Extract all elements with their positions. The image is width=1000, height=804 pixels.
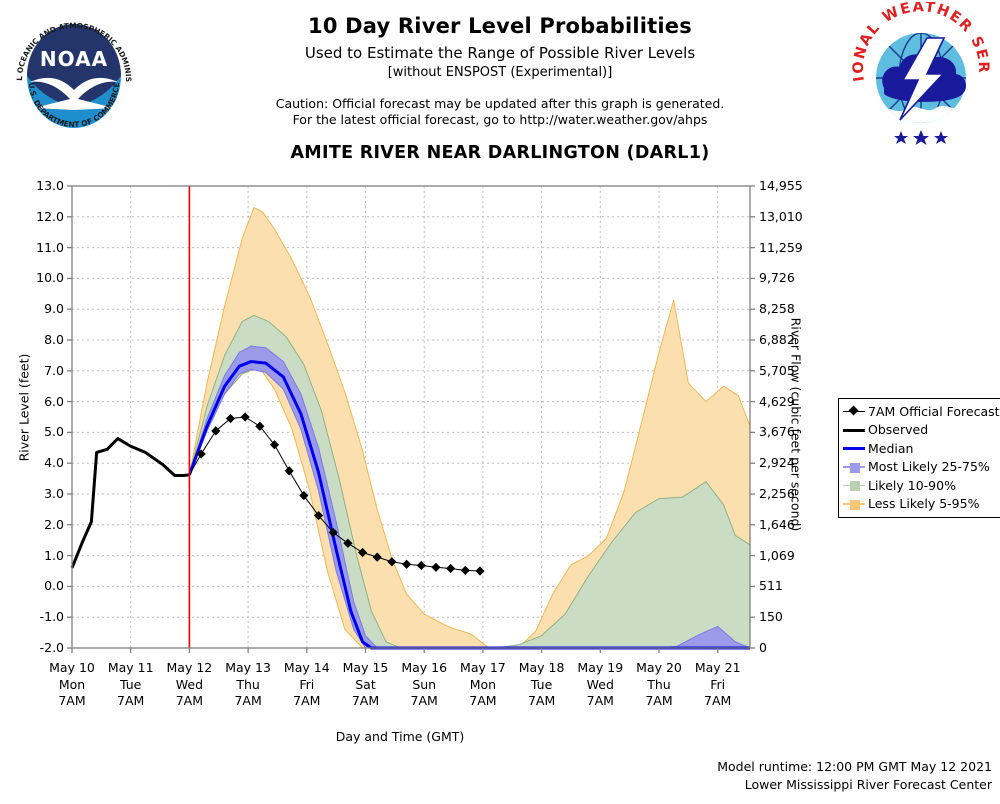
- y2-axis-tick-label: 5,705: [759, 363, 829, 378]
- y-axis-tick-label: 1.0: [18, 548, 64, 563]
- legend-marker-line-square-icon: [843, 460, 865, 474]
- y2-axis-tick-label: 6,882: [759, 332, 829, 347]
- legend-item: Less Likely 5-95%: [843, 495, 1000, 514]
- y2-axis-tick-label: 11,259: [759, 240, 829, 255]
- x-axis-tick-label: May 21Fri7AM: [675, 660, 761, 710]
- legend-marker-line-square-icon: [843, 478, 865, 492]
- chart-legend: 7AM Official ForecastObservedMedianMost …: [838, 398, 1000, 518]
- y-axis-tick-label: 7.0: [18, 363, 64, 378]
- y-axis-tick-label: 9.0: [18, 301, 64, 316]
- legend-item: 7AM Official Forecast: [843, 402, 1000, 421]
- legend-item: Median: [843, 439, 1000, 458]
- legend-label: Likely 10-90%: [868, 478, 956, 493]
- forecast-center-text: Lower Mississippi River Forecast Center: [717, 776, 992, 794]
- y2-axis-tick-label: 14,955: [759, 178, 829, 193]
- footer-block: Model runtime: 12:00 PM GMT May 12 2021 …: [717, 758, 992, 794]
- y-axis-tick-label: 12.0: [18, 209, 64, 224]
- legend-item: Most Likely 25-75%: [843, 458, 1000, 477]
- legend-marker-line-icon: [843, 423, 865, 437]
- x-axis-title: Day and Time (GMT): [280, 729, 520, 744]
- y-axis-tick-label: -2.0: [18, 640, 64, 655]
- y-axis-tick-label: 8.0: [18, 332, 64, 347]
- legend-label: 7AM Official Forecast: [868, 404, 1000, 419]
- x-tick-time: 7AM: [675, 693, 761, 710]
- y2-axis-tick-label: 8,258: [759, 301, 829, 316]
- x-tick-date: May 21: [675, 660, 761, 677]
- legend-label: Most Likely 25-75%: [868, 459, 990, 474]
- x-tick-day: Fri: [675, 677, 761, 694]
- legend-label: Less Likely 5-95%: [868, 496, 979, 511]
- legend-item: Likely 10-90%: [843, 476, 1000, 495]
- y2-axis-tick-label: 2,256: [759, 486, 829, 501]
- y-axis-tick-label: 13.0: [18, 178, 64, 193]
- y2-axis-tick-label: 1,069: [759, 548, 829, 563]
- y-axis-tick-label: 0.0: [18, 578, 64, 593]
- y2-axis-tick-label: 3,676: [759, 424, 829, 439]
- y2-axis-tick-label: 150: [759, 609, 829, 624]
- y-axis-tick-label: 2.0: [18, 517, 64, 532]
- y-axis-tick-label: 6.0: [18, 394, 64, 409]
- y-axis-tick-label: 5.0: [18, 424, 64, 439]
- y-axis-tick-label: 4.0: [18, 455, 64, 470]
- y2-axis-tick-label: 0: [759, 640, 829, 655]
- y-axis-tick-label: -1.0: [18, 609, 64, 624]
- y2-axis-tick-label: 1,646: [759, 517, 829, 532]
- model-runtime-text: Model runtime: 12:00 PM GMT May 12 2021: [717, 758, 992, 776]
- y2-axis-tick-label: 9,726: [759, 270, 829, 285]
- y2-axis-tick-label: 4,629: [759, 394, 829, 409]
- legend-marker-line-diamond-icon: [843, 404, 865, 418]
- y2-axis-tick-label: 13,010: [759, 209, 829, 224]
- y2-axis-tick-label: 2,924: [759, 455, 829, 470]
- legend-item: Observed: [843, 421, 1000, 440]
- legend-marker-line-square-icon: [843, 497, 865, 511]
- legend-label: Median: [868, 441, 913, 456]
- y-axis-tick-label: 3.0: [18, 486, 64, 501]
- y2-axis-tick-label: 511: [759, 578, 829, 593]
- y-axis-tick-label: 10.0: [18, 270, 64, 285]
- legend-marker-line-icon: [843, 441, 865, 455]
- y-axis-tick-label: 11.0: [18, 240, 64, 255]
- legend-label: Observed: [868, 422, 928, 437]
